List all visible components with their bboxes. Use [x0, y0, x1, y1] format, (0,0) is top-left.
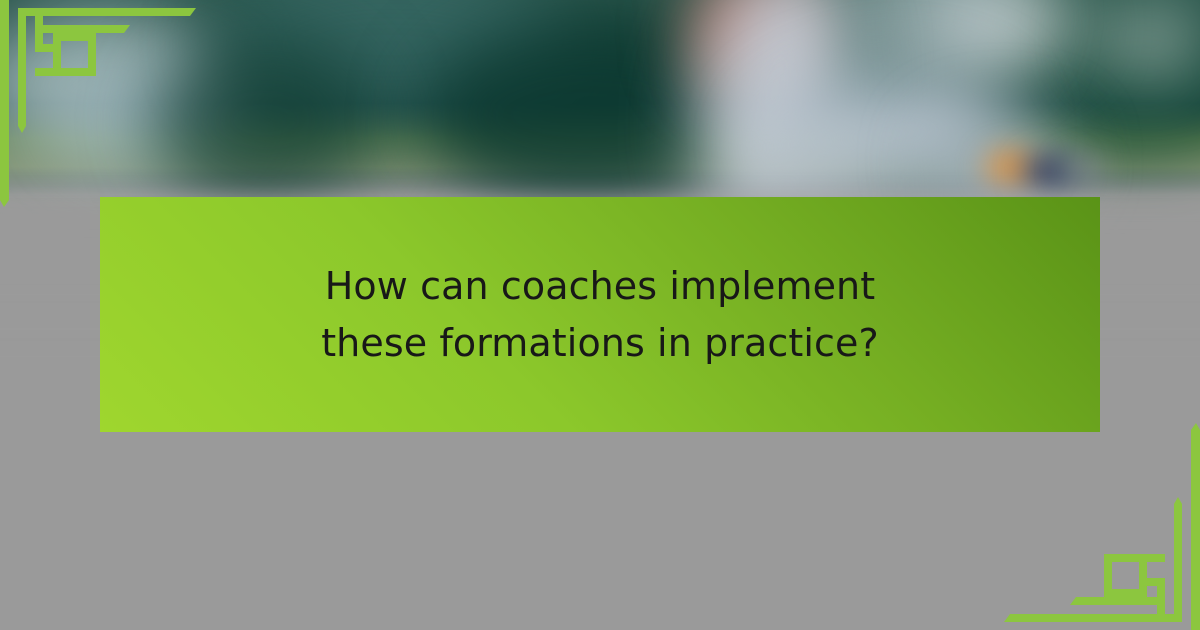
background-foliage-left — [150, 30, 380, 210]
background-equipment-grey — [1064, 158, 1104, 184]
question-text: How can coaches implement these formatio… — [280, 258, 920, 370]
background-white-shape-corner — [1090, 0, 1200, 80]
quote-card: How can coaches implement these formatio… — [0, 0, 1200, 630]
question-banner: How can coaches implement these formatio… — [100, 197, 1100, 432]
